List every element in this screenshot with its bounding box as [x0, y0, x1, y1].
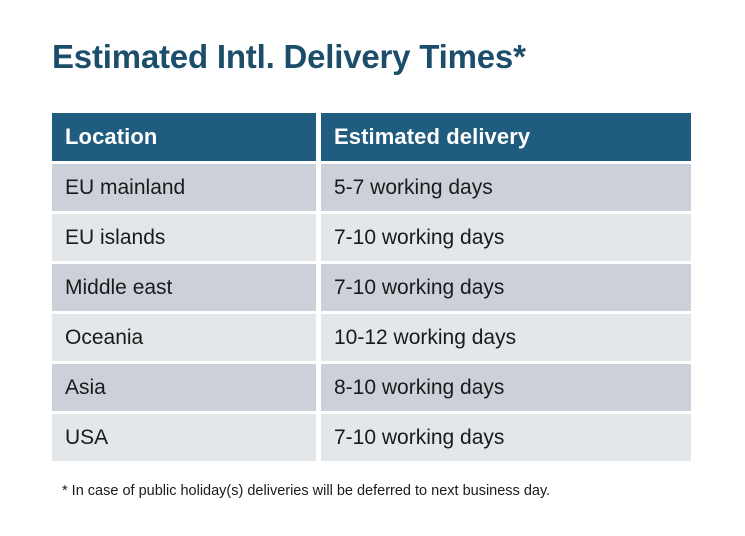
- table-header-cell-delivery: Estimated delivery: [321, 113, 691, 161]
- table-header-row: Location Estimated delivery: [52, 113, 691, 161]
- table-cell-location-text: Asia: [65, 376, 106, 400]
- table-cell-delivery: 10-12 working days: [321, 314, 691, 361]
- table-header-cell-location: Location: [52, 113, 316, 161]
- table-header-label-delivery: Estimated delivery: [334, 124, 530, 150]
- table-cell-delivery: 7-10 working days: [321, 414, 691, 461]
- table-cell-delivery: 7-10 working days: [321, 264, 691, 311]
- delivery-times-page: Estimated Intl. Delivery Times* Location…: [0, 0, 745, 536]
- table-row: Asia 8-10 working days: [52, 364, 691, 411]
- table-row: Middle east 7-10 working days: [52, 264, 691, 311]
- table-cell-location-text: EU islands: [65, 226, 165, 250]
- table-cell-location: EU islands: [52, 214, 316, 261]
- table-row: EU islands 7-10 working days: [52, 214, 691, 261]
- table-row: USA 7-10 working days: [52, 414, 691, 461]
- delivery-times-table: Location Estimated delivery EU mainland …: [52, 113, 691, 461]
- table-cell-location: Middle east: [52, 264, 316, 311]
- table-cell-delivery: 5-7 working days: [321, 164, 691, 211]
- table-cell-location-text: EU mainland: [65, 176, 185, 200]
- table-cell-delivery-text: 5-7 working days: [334, 176, 493, 200]
- table-cell-location-text: USA: [65, 426, 108, 450]
- table-cell-delivery-text: 10-12 working days: [334, 326, 516, 350]
- table-cell-delivery-text: 7-10 working days: [334, 276, 504, 300]
- table-cell-location: Asia: [52, 364, 316, 411]
- table-cell-location-text: Oceania: [65, 326, 143, 350]
- table-cell-delivery-text: 7-10 working days: [334, 426, 504, 450]
- table-cell-location: USA: [52, 414, 316, 461]
- table-cell-location: EU mainland: [52, 164, 316, 211]
- table-cell-delivery: 7-10 working days: [321, 214, 691, 261]
- table-row: Oceania 10-12 working days: [52, 314, 691, 361]
- table-row: EU mainland 5-7 working days: [52, 164, 691, 211]
- table-cell-location-text: Middle east: [65, 276, 172, 300]
- table-header-label-location: Location: [65, 124, 157, 150]
- page-title: Estimated Intl. Delivery Times*: [52, 36, 526, 78]
- table-cell-delivery-text: 7-10 working days: [334, 226, 504, 250]
- footnote-text: * In case of public holiday(s) deliverie…: [62, 481, 550, 501]
- table-cell-delivery-text: 8-10 working days: [334, 376, 504, 400]
- table-cell-delivery: 8-10 working days: [321, 364, 691, 411]
- table-cell-location: Oceania: [52, 314, 316, 361]
